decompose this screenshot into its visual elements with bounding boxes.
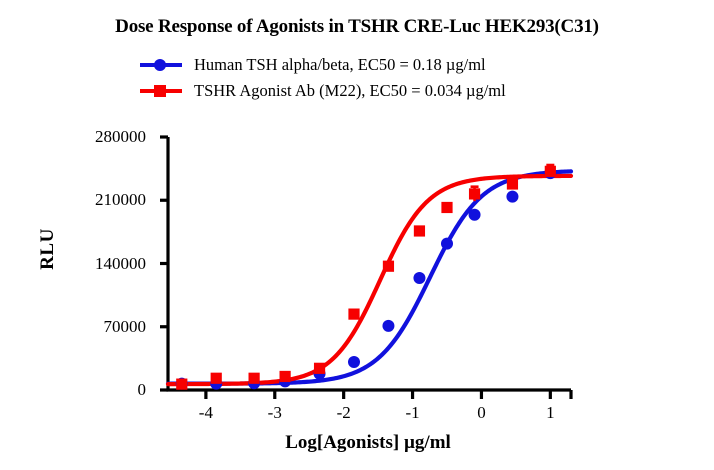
x-tick-label: -4 [186, 404, 226, 421]
legend-item-m22: TSHR Agonist Ab (M22), EC50 = 0.034 µg/m… [140, 78, 660, 104]
y-tick-label: 0 [46, 381, 146, 398]
legend-label-m22: TSHR Agonist Ab (M22), EC50 = 0.034 µg/m… [194, 81, 506, 101]
y-tick-label: 210000 [46, 191, 146, 208]
chart-legend: Human TSH alpha/beta, EC50 = 0.18 µg/ml … [140, 52, 660, 104]
y-tick-label: 140000 [46, 255, 146, 272]
legend-label-human-tsh: Human TSH alpha/beta, EC50 = 0.18 µg/ml [194, 55, 486, 75]
y-axis-label: RLU [37, 189, 59, 309]
x-tick-label: 0 [461, 404, 501, 421]
chart-figure: Dose Response of Agonists in TSHR CRE-Lu… [0, 0, 714, 470]
x-tick-label: 1 [530, 404, 570, 421]
legend-item-human-tsh: Human TSH alpha/beta, EC50 = 0.18 µg/ml [140, 52, 660, 78]
square-marker-icon [154, 85, 166, 97]
y-tick-label: 70000 [46, 318, 146, 335]
legend-key-circle [140, 55, 182, 75]
legend-key-square [140, 81, 182, 101]
x-axis-label: Log[Agonists] µg/ml [168, 432, 568, 454]
x-tick-label: -2 [324, 404, 364, 421]
y-tick-label: 280000 [46, 128, 146, 145]
x-tick-label: -3 [255, 404, 295, 421]
circle-marker-icon [154, 59, 166, 71]
x-tick-label: -1 [393, 404, 433, 421]
chart-title: Dose Response of Agonists in TSHR CRE-Lu… [0, 16, 714, 38]
